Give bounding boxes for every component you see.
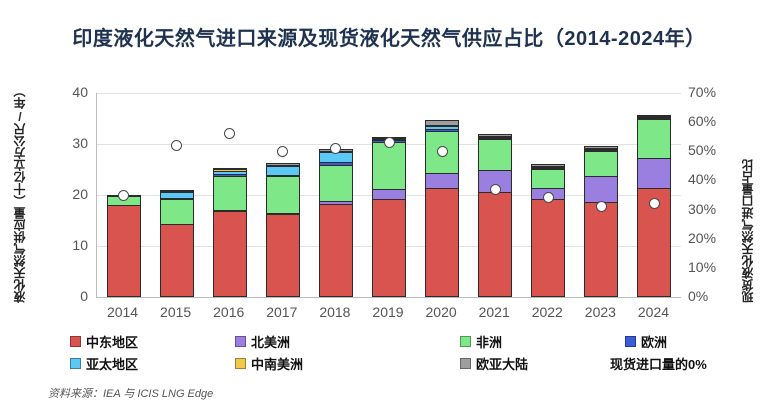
legend-item-label: 中东地区 <box>86 332 138 351</box>
y-tick-label-right: 10% <box>688 259 738 275</box>
plot-area <box>96 93 681 298</box>
legend-item-label: 欧亚大陆 <box>476 354 528 373</box>
bar-segment[interactable] <box>531 169 565 189</box>
bar-segment[interactable] <box>319 204 353 297</box>
bar-segment[interactable] <box>637 119 671 159</box>
bar-segment[interactable] <box>319 165 353 202</box>
y-tick-label-left: 0 <box>48 288 88 304</box>
spot-share-marker[interactable] <box>384 137 395 148</box>
legend-swatch-icon <box>460 336 471 347</box>
bar-segment[interactable] <box>531 199 565 297</box>
bar-stack[interactable] <box>584 147 618 297</box>
bar-segment[interactable] <box>584 176 618 203</box>
legend-swatch-icon <box>235 358 246 369</box>
y-tick-label-right: 30% <box>688 201 738 217</box>
legend-swatch-icon <box>460 358 471 369</box>
y-tick-label-right: 20% <box>688 230 738 246</box>
bar-stack[interactable] <box>213 169 247 297</box>
bar-segment[interactable] <box>584 202 618 297</box>
y-tick-label-left: 10 <box>48 237 88 253</box>
bar-segment[interactable] <box>107 205 141 297</box>
bar-segment[interactable] <box>213 176 247 212</box>
spot-share-marker[interactable] <box>118 190 129 201</box>
x-tick-label: 2023 <box>570 304 630 320</box>
bar-segment[interactable] <box>425 188 459 297</box>
bar-segment[interactable] <box>637 158 671 189</box>
legend-spot-share-note: 现货进口量的0% <box>610 354 707 373</box>
bar-segment[interactable] <box>425 173 459 189</box>
legend-item-label: 非洲 <box>476 332 502 351</box>
legend-item-label: 中南美洲 <box>251 354 303 373</box>
bar-segment[interactable] <box>478 192 512 297</box>
x-tick-label: 2015 <box>146 304 206 320</box>
bar-stack[interactable] <box>107 196 141 297</box>
bar-stack[interactable] <box>319 150 353 297</box>
y-tick-label-left: 30 <box>48 135 88 151</box>
chart-title: 印度液化天然气进口来源及现货液化天然气供应占比（2014-2024年） <box>0 22 778 51</box>
bar-segment[interactable] <box>584 151 618 177</box>
bar-segment[interactable] <box>160 199 194 226</box>
x-tick-label: 2016 <box>199 304 259 320</box>
bar-segment[interactable] <box>213 211 247 297</box>
spot-share-marker[interactable] <box>171 140 182 151</box>
spot-share-marker[interactable] <box>596 201 607 212</box>
x-tick-label: 2018 <box>305 304 365 320</box>
x-tick-label: 2021 <box>464 304 524 320</box>
bar-stack[interactable] <box>478 135 512 297</box>
legend-item[interactable]: 非洲 <box>460 332 502 351</box>
legend-item[interactable]: 中东地区 <box>70 332 138 351</box>
legend-row-secondary: 亚太地区中南美洲欧亚大陆现货进口量的0% <box>70 352 770 374</box>
bar-stack[interactable] <box>531 165 565 297</box>
chart-container: 印度液化天然气进口来源及现货液化天然气供应占比（2014-2024年） 液化天然… <box>0 0 778 420</box>
legend-item[interactable]: 欧洲 <box>625 332 667 351</box>
spot-share-marker[interactable] <box>490 184 501 195</box>
x-tick-label: 2022 <box>517 304 577 320</box>
y-axis-title-right: 现货液化天然气进口量占比 <box>742 88 754 303</box>
x-tick-label: 2014 <box>93 304 153 320</box>
spot-share-marker[interactable] <box>224 128 235 139</box>
bar-segment[interactable] <box>266 176 300 214</box>
legend-item-label: 欧洲 <box>641 332 667 351</box>
bar-stack[interactable] <box>266 164 300 297</box>
bar-segment[interactable] <box>372 142 406 189</box>
legend-item[interactable]: 亚太地区 <box>70 354 138 373</box>
bar-segment[interactable] <box>372 199 406 297</box>
legend-swatch-icon <box>625 336 636 347</box>
gridline <box>97 93 681 94</box>
chart-legend: 中东地区北美洲非洲欧洲 亚太地区中南美洲欧亚大陆现货进口量的0% <box>70 330 770 374</box>
x-tick-label: 2020 <box>411 304 471 320</box>
legend-row-primary: 中东地区北美洲非洲欧洲 <box>70 330 770 352</box>
legend-item[interactable]: 欧亚大陆 <box>460 354 528 373</box>
legend-swatch-icon <box>70 336 81 347</box>
y-axis-title-left: 液化天然气供应量（十亿立方公尺/年） <box>14 88 26 303</box>
y-tick-label-right: 0% <box>688 288 738 304</box>
source-note: 资料来源：IEA 与 ICIS LNG Edge <box>48 385 213 401</box>
legend-item-label: 北美洲 <box>251 332 290 351</box>
y-tick-label-right: 70% <box>688 84 738 100</box>
y-tick-label-left: 20 <box>48 186 88 202</box>
x-tick-label: 2019 <box>358 304 418 320</box>
legend-item[interactable]: 北美洲 <box>235 332 290 351</box>
bar-segment[interactable] <box>478 139 512 171</box>
spot-share-marker[interactable] <box>277 146 288 157</box>
y-tick-label-right: 60% <box>688 113 738 129</box>
y-tick-label-right: 50% <box>688 142 738 158</box>
legend-swatch-icon <box>235 336 246 347</box>
bar-stack[interactable] <box>372 138 406 297</box>
bar-segment[interactable] <box>160 224 194 297</box>
spot-share-marker[interactable] <box>437 146 448 157</box>
x-tick-label: 2017 <box>252 304 312 320</box>
legend-item-label: 亚太地区 <box>86 354 138 373</box>
legend-swatch-icon <box>70 358 81 369</box>
x-tick-label: 2024 <box>623 304 683 320</box>
bar-segment[interactable] <box>266 214 300 297</box>
y-tick-label-left: 40 <box>48 84 88 100</box>
y-tick-label-right: 40% <box>688 171 738 187</box>
bar-stack[interactable] <box>160 191 194 297</box>
legend-item[interactable]: 中南美洲 <box>235 354 303 373</box>
